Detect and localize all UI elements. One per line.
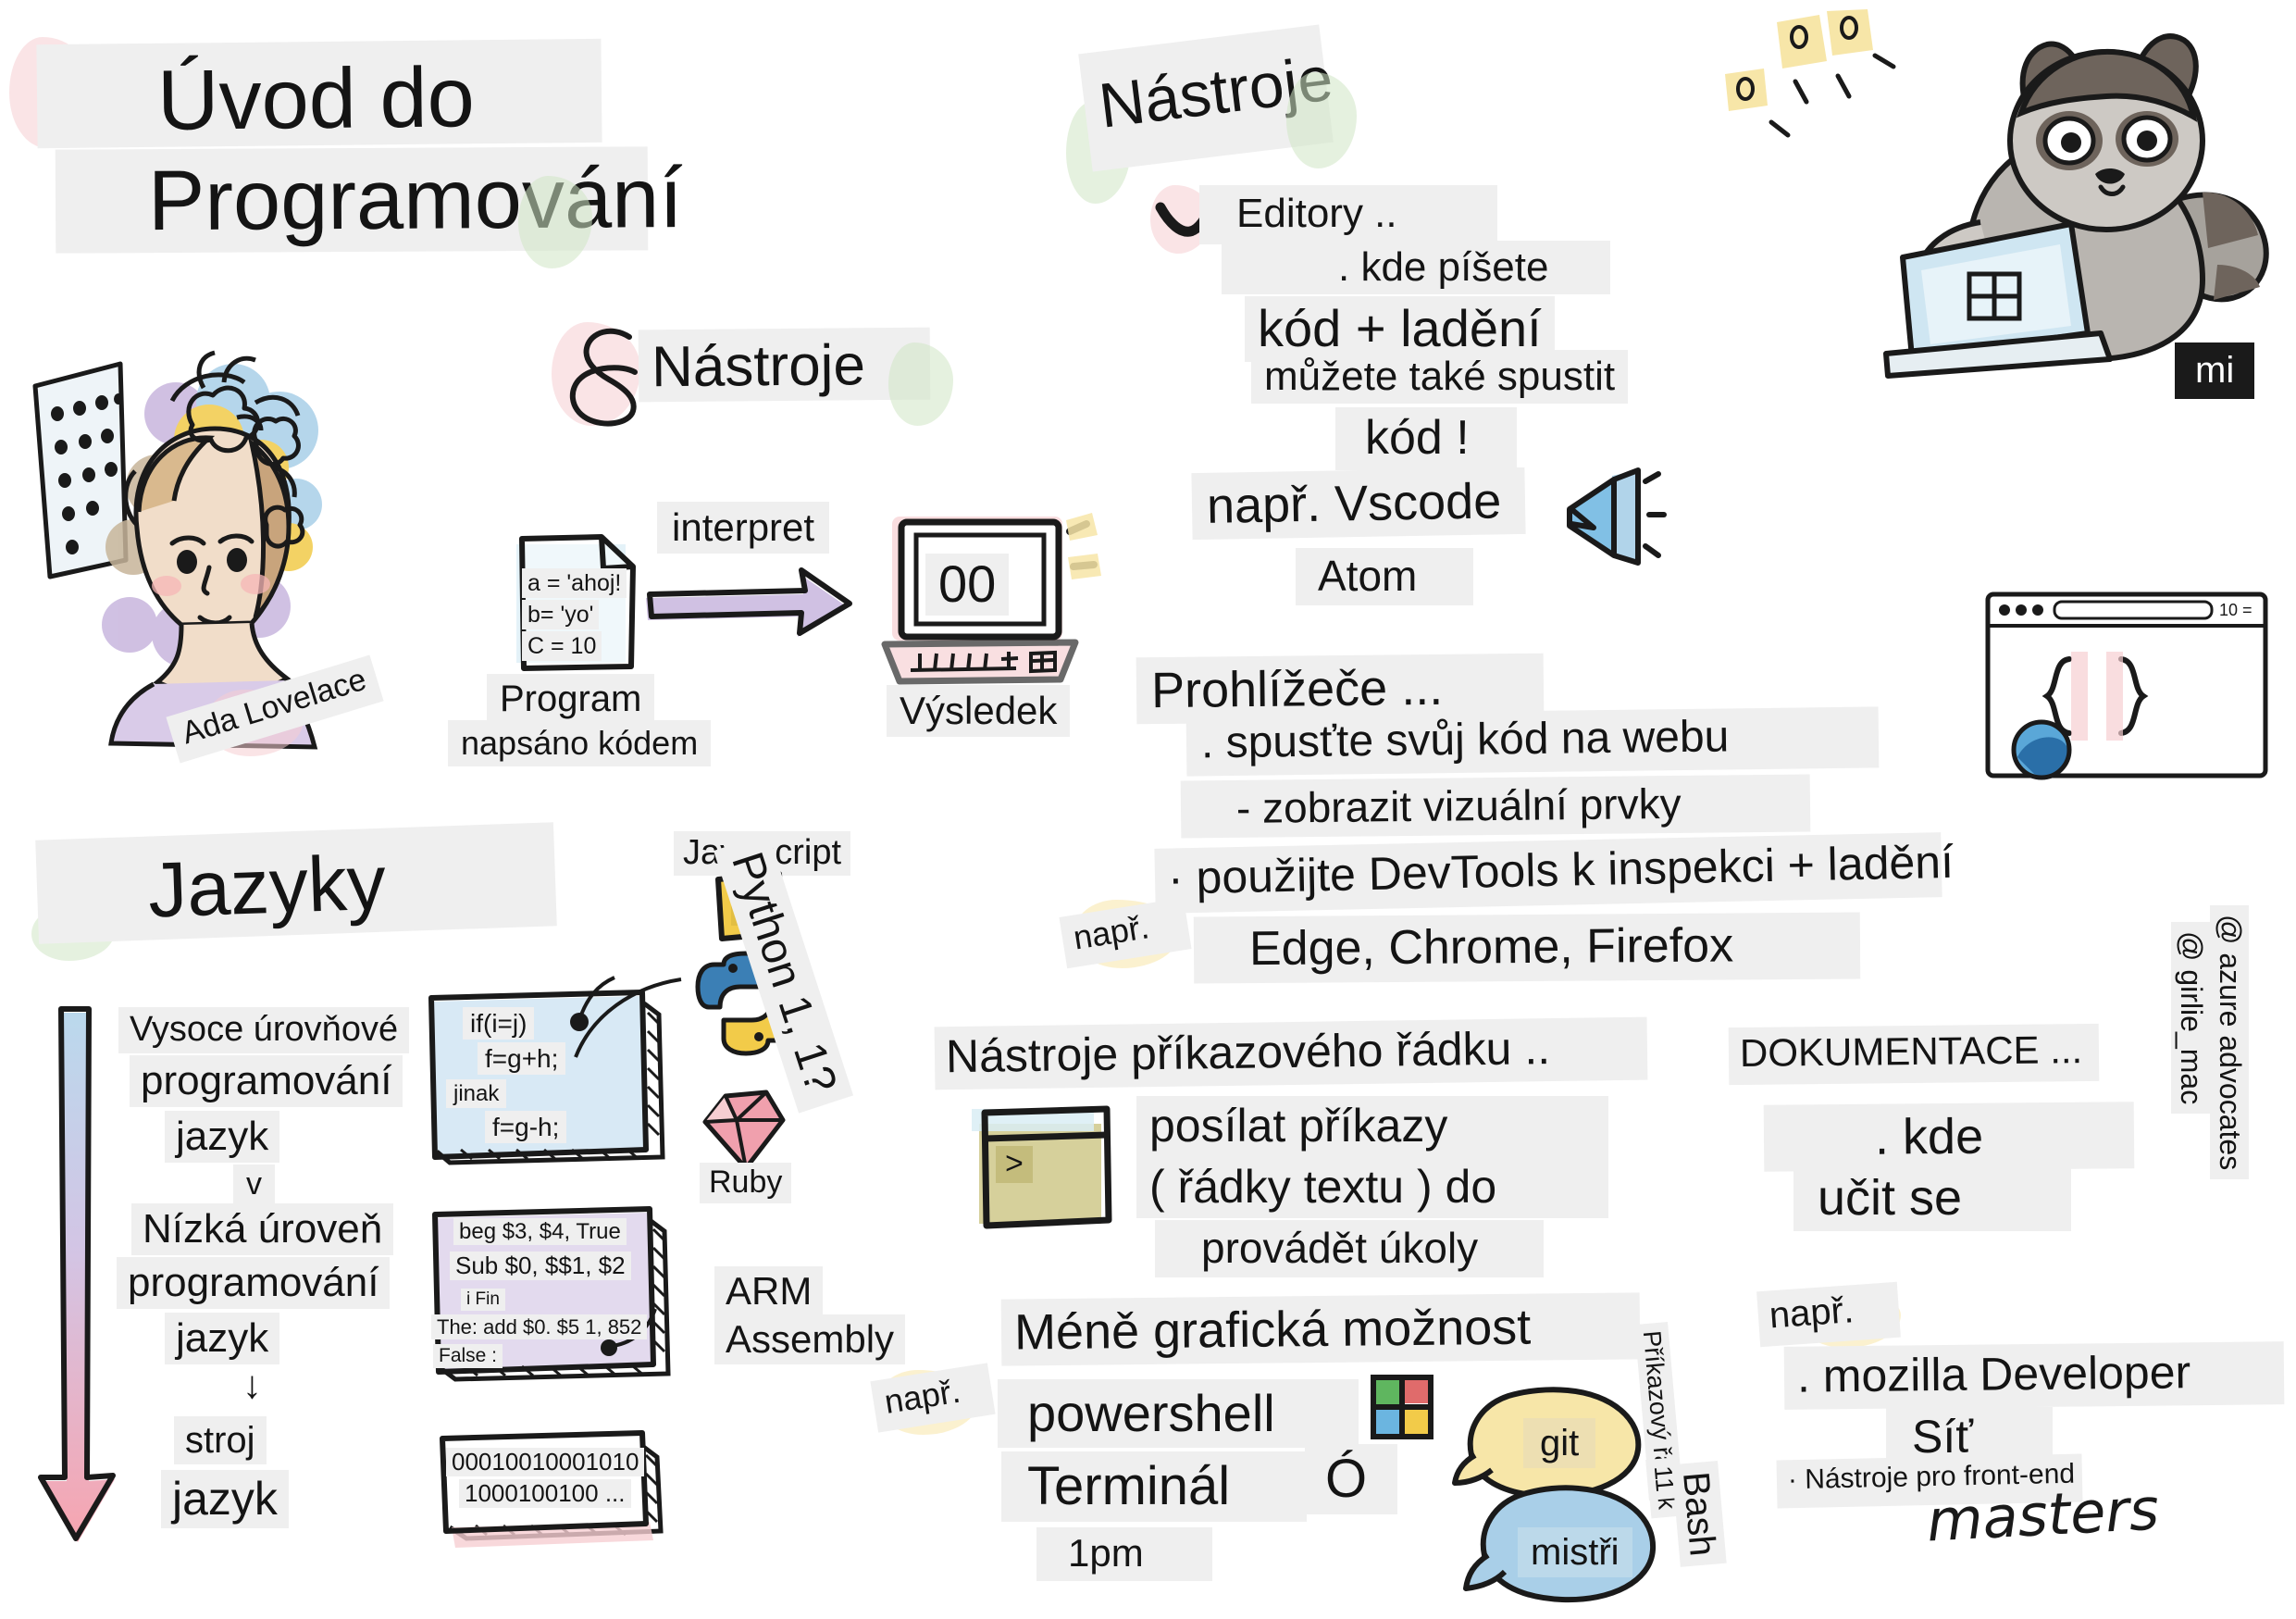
ladder-low-level: Nízká úroveň bbox=[131, 1203, 393, 1255]
browser-window-icon: 10 = bbox=[1980, 585, 2277, 789]
program-code-line-3: C = 10 bbox=[522, 631, 602, 661]
cli-vertical-bash: Bash bbox=[1671, 1461, 1726, 1567]
cli-line-provadet: provádět úkoly bbox=[1155, 1220, 1544, 1277]
ladder-machine: stroj bbox=[174, 1416, 267, 1464]
cli-eg-label: např. bbox=[870, 1363, 995, 1432]
ladder-high-language: jazyk bbox=[165, 1111, 279, 1163]
tools-subtitle: Nástroje bbox=[639, 328, 931, 403]
tools-line-vscode: např. Vscode bbox=[1191, 467, 1525, 540]
vscode-icon bbox=[1555, 467, 1657, 568]
high-code-line-1: if(i=j) bbox=[463, 1007, 534, 1040]
editors-heading: Editory .. bbox=[1199, 185, 1497, 244]
languages-heading: Jazyky bbox=[35, 822, 557, 943]
cli-item-powershell: powershell bbox=[998, 1379, 1359, 1448]
ladder-low-programming: programování bbox=[117, 1257, 390, 1309]
credit-girlie-mac: @ girlie_mac bbox=[2171, 922, 2210, 1114]
asm-code-line-1: beg $3, $4, True bbox=[453, 1218, 627, 1245]
tools-line-atom: Atom bbox=[1296, 548, 1473, 605]
ladder-machine-language: jazyk bbox=[161, 1470, 289, 1528]
program-label-line2: napsáno kódem bbox=[448, 720, 711, 766]
program-label-line1: Program bbox=[487, 674, 654, 724]
terminal-window-icon bbox=[968, 1103, 1125, 1242]
asm-code-line-2: Sub $0, $$1, $2 bbox=[450, 1252, 631, 1280]
svg-text:10 =: 10 = bbox=[2219, 601, 2253, 619]
tools-subtitle-green-wash bbox=[888, 342, 953, 426]
git-bubble-label: git bbox=[1523, 1418, 1595, 1468]
tools-heading-green-wash-2 bbox=[1286, 72, 1357, 168]
credit-azure-advocates: @ azure advocates bbox=[2210, 905, 2249, 1179]
ladder-low-language: jazyk bbox=[165, 1313, 279, 1364]
docs-mozilla-line1: . mozilla Developer bbox=[1784, 1341, 2285, 1410]
interpret-label: interpret bbox=[657, 502, 829, 554]
asm-code-line-5: False : bbox=[433, 1344, 503, 1368]
cli-item-1pm: 1pm bbox=[1036, 1527, 1212, 1581]
cli-line-radky: ( řádky textu ) do bbox=[1136, 1157, 1608, 1218]
apple-glyph-icon: Ó bbox=[1305, 1444, 1397, 1514]
raccoon-illustration bbox=[1703, 9, 2295, 380]
sketchnote-canvas: Úvod do Programování Nástroje bbox=[0, 0, 2296, 1619]
asm-code-line-4: The: add $0. $5 1, 852 bbox=[431, 1314, 647, 1339]
browsers-line-devtools: · použijte DevTools k inspekci + ladění bbox=[1154, 832, 1942, 914]
browsers-line-zobrazit: - zobrazit vizuální prvky bbox=[1181, 774, 1811, 838]
interpret-arrow-icon bbox=[640, 567, 853, 650]
high-code-line-3: jinak bbox=[446, 1079, 506, 1108]
ruby-label: Ruby bbox=[700, 1163, 791, 1203]
machine-code-line-2: 1000100100 ... bbox=[459, 1479, 631, 1508]
arm-label-line2: Assembly bbox=[714, 1314, 905, 1364]
docs-line-kde: . kde bbox=[1764, 1102, 2135, 1171]
code-card-connector-line bbox=[574, 955, 740, 1066]
mistri-bubble-label: mistři bbox=[1518, 1527, 1632, 1577]
raccoon-badge: mi bbox=[2175, 342, 2254, 399]
cli-subheading: Méně grafická možnost bbox=[1001, 1292, 1641, 1365]
frontend-masters-wordmark: masters bbox=[1925, 1475, 2160, 1554]
ladder-high-programming: programování bbox=[130, 1055, 403, 1107]
program-code-line-1: a = 'ahoj! bbox=[522, 568, 627, 598]
arm-label-line1: ARM bbox=[714, 1266, 823, 1316]
browsers-examples: Edge, Chrome, Firefox bbox=[1194, 912, 1860, 983]
browsers-line-spustte: . spusťte svůj kód na webu bbox=[1186, 706, 1880, 776]
program-code-line-2: b= 'yo' bbox=[522, 600, 599, 629]
page-title-line1: Úvod do bbox=[36, 39, 602, 148]
machine-code-line-1: 00010010001010 bbox=[446, 1448, 644, 1476]
ruby-icon bbox=[700, 1089, 788, 1174]
ladder-v-glyph: v bbox=[233, 1164, 275, 1205]
docs-heading: DOKUMENTACE ... bbox=[1729, 1024, 2100, 1085]
docs-eg-label: např. bbox=[1756, 1282, 1901, 1347]
browsers-eg-label: např. bbox=[1059, 898, 1191, 969]
result-screen-text: 00 bbox=[925, 554, 1009, 616]
tools-line-kod: kód ! bbox=[1335, 407, 1517, 470]
tools-line-muzete-spustit: můžete také spustit bbox=[1251, 350, 1628, 404]
high-code-line-4: f=g-h; bbox=[485, 1111, 566, 1143]
tools-line-kde-pisete: . kde píšete bbox=[1222, 241, 1610, 294]
title-green-wash bbox=[518, 176, 592, 268]
high-code-line-2: f=g+h; bbox=[478, 1042, 565, 1075]
result-label: Výsledek bbox=[887, 685, 1070, 737]
ladder-down-arrow-icon: ↓ bbox=[231, 1363, 273, 1407]
asm-code-line-3: i Fin bbox=[461, 1289, 505, 1311]
cli-item-terminal: Terminál bbox=[1001, 1451, 1307, 1522]
cli-heading: Nástroje příkazového řádku .. bbox=[935, 1017, 1648, 1090]
cli-line-posilat: posílat příkazy bbox=[1136, 1096, 1608, 1157]
ladder-high-level: Vysoce úrovňové bbox=[118, 1007, 409, 1053]
docs-line-ucit-se: učit se bbox=[1793, 1164, 2071, 1231]
terminal-prompt-glyph: > bbox=[996, 1146, 1033, 1183]
windows-logo-icon bbox=[1368, 1374, 1438, 1442]
